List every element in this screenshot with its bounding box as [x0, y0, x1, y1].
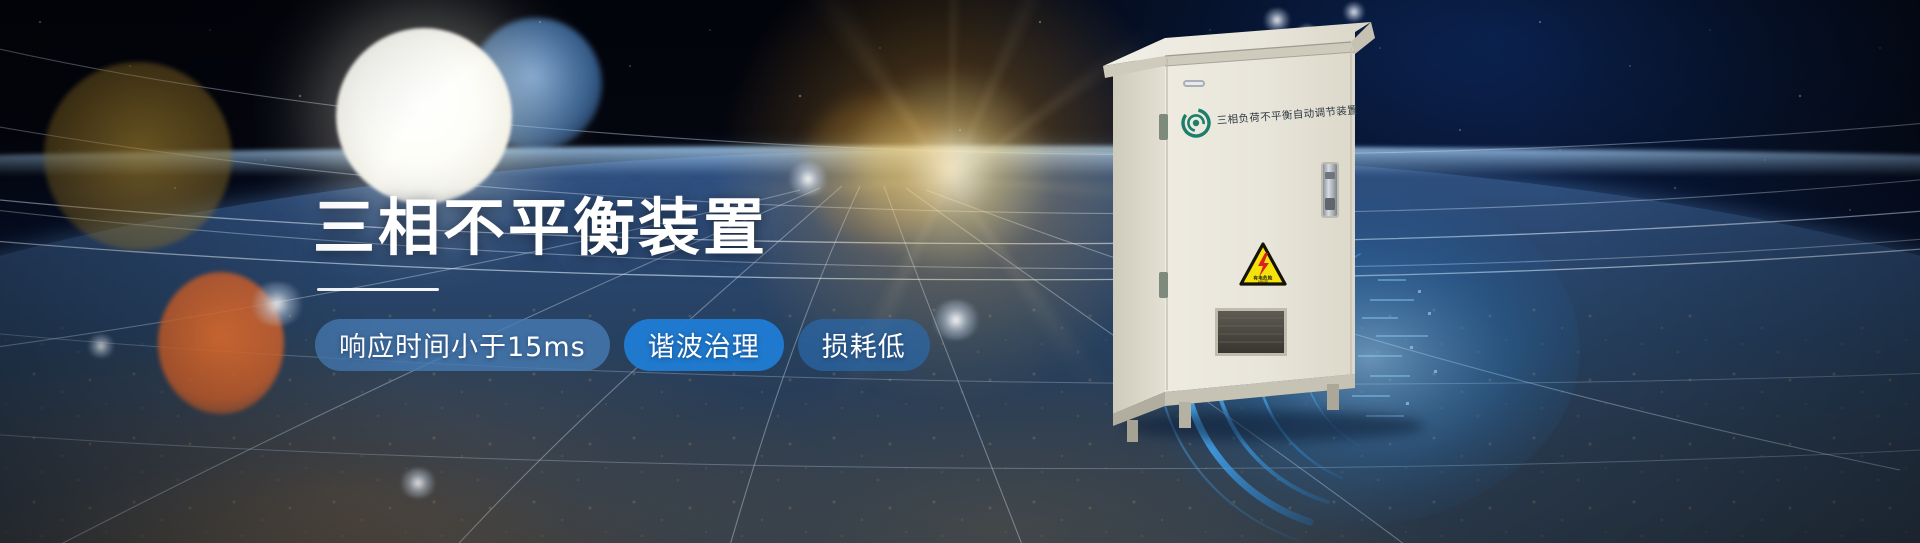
lens-flare-3	[930, 300, 982, 340]
lens-flare-1	[248, 282, 306, 326]
cabinet-vent-grille	[1215, 308, 1287, 356]
hero-banner: 三相负荷不平衡自动调节装置 有电危险 DANGER	[0, 0, 1920, 543]
lens-flare-9	[86, 334, 116, 358]
warning-label-subtext: DANGER	[1258, 281, 1269, 284]
cabinet-hinge-top	[1159, 114, 1168, 140]
feature-pill-list: 响应时间小于15ms 谐波治理 损耗低	[315, 319, 933, 371]
cabinet-leg-left	[1179, 402, 1191, 428]
title-divider	[317, 288, 439, 291]
feature-pill-harmonic-treatment[interactable]: 谐波治理	[624, 319, 784, 371]
bokeh-circle-white	[336, 28, 512, 204]
bokeh-circle-amber	[44, 62, 232, 250]
cabinet-top-latch	[1183, 80, 1205, 87]
cabinet-hinge-bottom	[1159, 272, 1168, 298]
banner-copy: 三相不平衡装置 响应时间小于15ms 谐波治理 损耗低	[313, 195, 933, 371]
lens-flare-5	[398, 468, 438, 498]
lens-flare-2	[786, 162, 830, 196]
product-cabinet: 三相负荷不平衡自动调节装置 有电危险 DANGER	[1055, 22, 1475, 442]
cabinet-side-panel	[1113, 46, 1165, 414]
feature-pill-response-time[interactable]: 响应时间小于15ms	[315, 319, 610, 371]
page-title: 三相不平衡装置	[313, 195, 933, 262]
lens-flare-8	[1342, 2, 1366, 22]
feature-pill-low-loss[interactable]: 损耗低	[798, 319, 930, 371]
cabinet-door-handle	[1321, 162, 1339, 218]
cabinet-leg-right	[1327, 384, 1339, 410]
cabinet-leg-back	[1127, 420, 1138, 442]
